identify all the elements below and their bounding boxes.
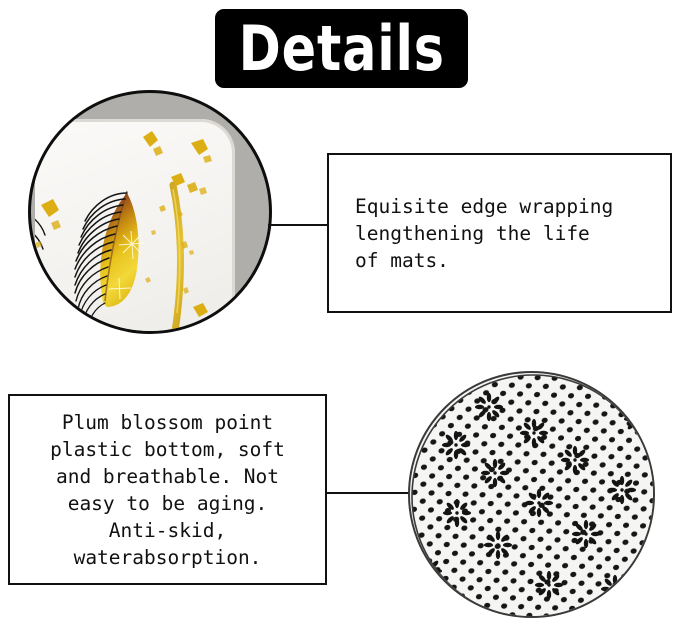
photo-antiskid-backing-closeup — [408, 371, 655, 618]
feather-print-graphic — [31, 93, 272, 334]
photo-mat-edge-closeup — [28, 90, 272, 334]
callout-plum-blossom-bottom: Plum blossom point plastic bottom, soft … — [8, 394, 327, 585]
callout-edge-wrapping: Equisite edge wrapping lengthening the l… — [327, 153, 672, 313]
callout-edge-wrapping-text: Equisite edge wrapping lengthening the l… — [355, 193, 656, 274]
connector-line-antiskid — [325, 492, 410, 494]
page-title: Details — [238, 18, 444, 80]
plum-blossom-dot-pattern-graphic — [410, 373, 655, 618]
details-title-banner: Details — [215, 9, 468, 88]
connector-line-mat-edge — [268, 224, 329, 226]
callout-plum-blossom-bottom-text: Plum blossom point plastic bottom, soft … — [24, 409, 311, 571]
